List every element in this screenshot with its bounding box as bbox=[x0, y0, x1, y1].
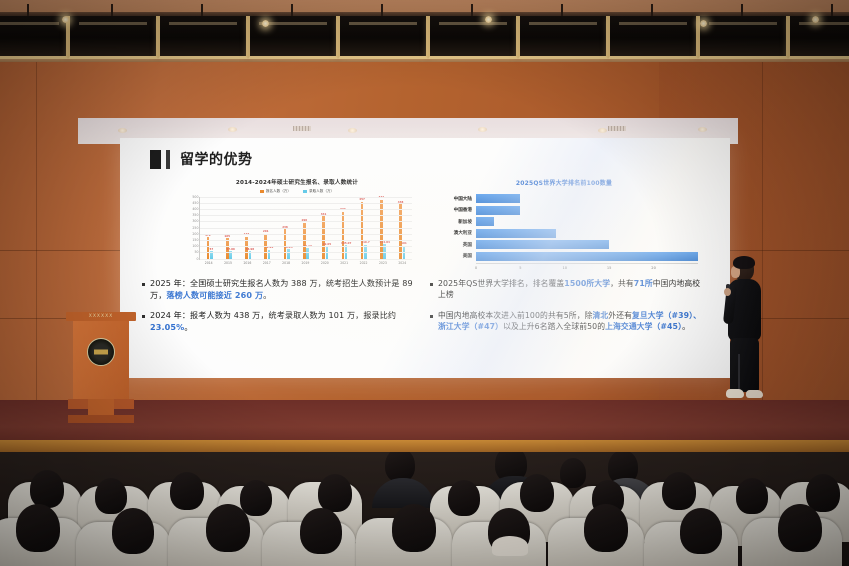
audience-head bbox=[16, 504, 60, 552]
light-hanger bbox=[27, 4, 29, 16]
chart-title-right: 2025QS世界大学排名前100数量 bbox=[430, 178, 698, 187]
bar-category-label: 澳大利亚 bbox=[430, 230, 476, 236]
presenter bbox=[724, 258, 772, 410]
bullet-marker-icon bbox=[430, 315, 433, 318]
bar-category-label: 中国香港 bbox=[430, 207, 476, 213]
x-axis-tick: 2024 bbox=[398, 261, 406, 265]
ceiling-spotlight bbox=[262, 20, 269, 27]
plain-text: 外还有 bbox=[608, 311, 632, 320]
bar-country-count bbox=[476, 240, 609, 249]
bar-category-label: 美国 bbox=[430, 253, 476, 259]
gridline bbox=[200, 246, 412, 247]
audience-head bbox=[206, 504, 250, 552]
light-hanger bbox=[741, 4, 743, 16]
y-axis-tick: 0 bbox=[196, 257, 198, 261]
podium-base bbox=[68, 415, 134, 423]
highlighted-text: 清北 bbox=[593, 311, 609, 320]
x-axis-tick: 20 bbox=[651, 266, 656, 270]
chart-qs-top100: 2025QS世界大学排名前100数量 中国大陆中国香港新加坡澳大利亚英国美国 0… bbox=[430, 178, 698, 273]
audience-head bbox=[520, 474, 554, 512]
bullet-item: 2025年QS世界大学排名，排名覆盖1500所大学，共有71所中国内地高校上榜 bbox=[430, 278, 708, 301]
x-axis-tick: 5 bbox=[519, 266, 521, 270]
bar-row: 新加坡 bbox=[430, 217, 698, 226]
chart-bars-right: 中国大陆中国香港新加坡澳大利亚英国美国 bbox=[430, 194, 698, 261]
audience-cap bbox=[492, 536, 528, 556]
audience-head bbox=[392, 504, 436, 552]
x-axis-tick: 10 bbox=[563, 266, 568, 270]
chart-xaxis-left: 2014201520162017201820192020202120222023… bbox=[199, 261, 412, 265]
audience-head bbox=[560, 458, 586, 488]
bullet-item: 2025 年：全国硕士研究生报名人数为 388 万，统考招生人数预计是 89 万… bbox=[142, 278, 420, 301]
auditorium-photo: 留学的优势 2014-2024年硕士研究生报名、录取人数统计 报名人数（万）录取… bbox=[0, 0, 849, 566]
y-axis-tick: 400 bbox=[192, 207, 198, 211]
gridline bbox=[200, 197, 412, 198]
x-axis-tick: 15 bbox=[607, 266, 612, 270]
plain-text: 。 bbox=[263, 290, 271, 300]
stage-light-fixture bbox=[68, 16, 158, 59]
audience-head bbox=[95, 478, 127, 514]
audience-head bbox=[662, 472, 696, 510]
bullet-text: 2025 年：全国硕士研究生报名人数为 388 万，统考招生人数预计是 89 万… bbox=[150, 278, 420, 301]
audience-head bbox=[30, 470, 64, 508]
bar-track bbox=[476, 217, 698, 226]
highlighted-text: 1500所大学 bbox=[564, 279, 610, 288]
podium-top-text: XXXXXX bbox=[66, 314, 136, 319]
bullet-text: 2024 年：报考人数为 438 万，统考录取人数为 101 万，报录比约 23… bbox=[150, 310, 420, 333]
chart-plot-left: 1725716557.0617758.9820172.2223876.25290… bbox=[199, 197, 412, 260]
podium: XXXXXX bbox=[70, 312, 132, 427]
bullet-text: 2025年QS世界大学排名，排名覆盖1500所大学，共有71所中国内地高校上榜 bbox=[438, 278, 708, 301]
y-axis-tick: 450 bbox=[192, 201, 198, 205]
bar-category-label: 中国大陆 bbox=[430, 196, 476, 202]
audience-head bbox=[736, 478, 768, 514]
light-hanger bbox=[201, 4, 203, 16]
gridline bbox=[200, 215, 412, 216]
gridline bbox=[200, 228, 412, 229]
legend-item: 录取人数（万） bbox=[303, 189, 334, 194]
bar-country-count bbox=[476, 252, 698, 261]
light-hanger bbox=[381, 4, 383, 16]
bar-value-label: 110.7 bbox=[361, 240, 370, 244]
stage-light-fixture bbox=[158, 16, 248, 59]
bar-track bbox=[476, 252, 698, 261]
chart-xaxis-right: 05101520 bbox=[476, 263, 698, 273]
highlighted-text: 上海交通大学（#45） bbox=[605, 322, 682, 331]
podium-top: XXXXXX bbox=[66, 312, 136, 321]
bar-value-label: 457 bbox=[359, 197, 365, 201]
chart-legend-left: 报名人数（万）录取人数（万） bbox=[182, 189, 412, 194]
bullet-column-left: 2025 年：全国硕士研究生报名人数为 388 万，统考招生人数预计是 89 万… bbox=[142, 278, 420, 376]
bullet-item: 中国内地高校本次进入前100的共有5所，除清北外还有复旦大学（#39）、浙江大学… bbox=[430, 310, 708, 333]
light-hanger bbox=[471, 4, 473, 16]
x-axis-tick: 2019 bbox=[302, 261, 310, 265]
audience-seating bbox=[0, 452, 849, 566]
legend-label: 录取人数（万） bbox=[309, 189, 334, 194]
chart-enrollment-statistics: 2014-2024年硕士研究生报名、录取人数统计 报名人数（万）录取人数（万） … bbox=[182, 178, 412, 273]
x-axis-tick: 2017 bbox=[263, 261, 271, 265]
bullet-marker-icon bbox=[142, 315, 145, 318]
bullet-marker-icon bbox=[142, 283, 145, 286]
chart-title-left: 2014-2024年硕士研究生报名、录取人数统计 bbox=[182, 178, 412, 186]
gridline bbox=[200, 240, 412, 241]
light-hanger bbox=[291, 4, 293, 16]
slide-title-row: 留学的优势 bbox=[150, 149, 253, 169]
presenter-shoe-left bbox=[726, 389, 744, 398]
x-axis-tick: 2018 bbox=[282, 261, 290, 265]
presenter-shoe-right bbox=[746, 390, 763, 398]
bar-value-label: 201 bbox=[263, 229, 269, 233]
bar-value-label: 101 bbox=[401, 241, 407, 245]
audience-shoulders bbox=[372, 478, 434, 508]
bar-value-label: 57.06 bbox=[226, 247, 235, 251]
slide-bullets: 2025 年：全国硕士研究生报名人数为 388 万，统考招生人数预计是 89 万… bbox=[120, 278, 730, 376]
y-axis-tick: 500 bbox=[192, 195, 198, 199]
y-axis-tick: 150 bbox=[192, 238, 198, 242]
bar-row: 中国香港 bbox=[430, 206, 698, 215]
audience-head bbox=[680, 508, 722, 554]
presenter-hand bbox=[724, 288, 731, 296]
bullet-item: 2024 年：报考人数为 438 万，统考录取人数为 101 万，报录比约 23… bbox=[142, 310, 420, 333]
podium-emblem-icon bbox=[87, 338, 115, 366]
bar-value-label: 105.07 bbox=[341, 241, 351, 245]
light-hanger bbox=[111, 4, 113, 16]
bar-value-label: 58.98 bbox=[246, 247, 255, 251]
plain-text: 2025年QS世界大学排名，排名覆盖 bbox=[438, 279, 564, 288]
y-axis-tick: 300 bbox=[192, 219, 198, 223]
gridline bbox=[200, 234, 412, 235]
charts-region: 2014-2024年硕士研究生报名、录取人数统计 报名人数（万）录取人数（万） … bbox=[120, 178, 730, 273]
presenter-legs bbox=[730, 338, 759, 392]
light-hanger bbox=[831, 4, 833, 16]
gridline bbox=[200, 252, 412, 253]
bar-admitted: 72.22 bbox=[268, 250, 271, 259]
bar-country-count bbox=[476, 229, 556, 238]
plain-text: 以及上升6名踏入全球前50的 bbox=[503, 322, 605, 331]
gridline bbox=[200, 203, 412, 204]
stage-light-fixture bbox=[428, 16, 518, 59]
gridline bbox=[200, 209, 412, 210]
legend-item: 报名人数（万） bbox=[260, 189, 291, 194]
bar-country-count bbox=[476, 194, 520, 203]
bullet-marker-icon bbox=[430, 283, 433, 286]
wall-edge bbox=[36, 62, 37, 442]
y-axis-tick: 200 bbox=[192, 232, 198, 236]
highlighted-text: 23.05% bbox=[150, 322, 184, 332]
stage-light-fixture bbox=[518, 16, 608, 59]
plain-text: ，共有 bbox=[610, 279, 634, 288]
bullet-column-right: 2025年QS世界大学排名，排名覆盖1500所大学，共有71所中国内地高校上榜中… bbox=[430, 278, 708, 376]
ceiling-spotlight bbox=[62, 16, 69, 23]
y-axis-tick: 350 bbox=[192, 213, 198, 217]
bar-applicants: 457 bbox=[361, 202, 364, 259]
highlighted-text: 落榜人数可能接近 260 万 bbox=[166, 290, 263, 300]
bar-admitted: 76.25 bbox=[287, 249, 290, 258]
title-marker-small-icon bbox=[166, 150, 170, 169]
x-axis-tick: 2022 bbox=[360, 261, 368, 265]
audience-head bbox=[300, 508, 342, 554]
y-axis-tick: 50 bbox=[194, 250, 198, 254]
stage-light-fixture bbox=[338, 16, 428, 59]
ceiling-spotlight bbox=[812, 16, 819, 23]
light-hanger bbox=[651, 4, 653, 16]
x-axis-tick: 2014 bbox=[205, 261, 213, 265]
bar-country-count bbox=[476, 206, 520, 215]
gridline bbox=[200, 221, 412, 222]
audience-head bbox=[112, 508, 154, 554]
presenter-leg-split bbox=[738, 354, 740, 392]
audience-head bbox=[318, 474, 352, 512]
presentation-slide: 留学的优势 2014-2024年硕士研究生报名、录取人数统计 报名人数（万）录取… bbox=[120, 138, 730, 378]
page-title: 留学的优势 bbox=[180, 149, 253, 169]
plain-text: 2024 年：报考人数为 438 万，统考录取人数为 101 万，报录比约 bbox=[150, 310, 396, 320]
stage-light-fixture bbox=[0, 16, 68, 59]
highlighted-text: 71所 bbox=[634, 279, 653, 288]
light-hanger bbox=[561, 4, 563, 16]
plain-text: 中国内地高校本次进入前100的共有5所，除 bbox=[438, 311, 593, 320]
stage-light-fixture bbox=[608, 16, 698, 59]
bar-track bbox=[476, 229, 698, 238]
gridline bbox=[200, 259, 412, 260]
bar-row: 中国大陆 bbox=[430, 194, 698, 203]
y-axis-tick: 100 bbox=[192, 244, 198, 248]
audience-head bbox=[448, 480, 480, 516]
bullet-text: 中国内地高校本次进入前100的共有5所，除清北外还有复旦大学（#39）、浙江大学… bbox=[438, 310, 708, 333]
stage-light-fixture bbox=[788, 16, 849, 59]
x-axis-tick: 2015 bbox=[224, 261, 232, 265]
bar-track bbox=[476, 206, 698, 215]
x-axis-tick: 2021 bbox=[340, 261, 348, 265]
x-axis-tick: 2020 bbox=[321, 261, 329, 265]
x-axis-tick: 2016 bbox=[243, 261, 251, 265]
presenter-hair bbox=[733, 256, 755, 269]
projection-screen: 留学的优势 2014-2024年硕士研究生报名、录取人数统计 报名人数（万）录取… bbox=[120, 138, 730, 378]
bar-row: 英国 bbox=[430, 240, 698, 249]
bar-applicants: 438 bbox=[399, 204, 402, 258]
bar-category-label: 英国 bbox=[430, 242, 476, 248]
bar-value-label: 57 bbox=[209, 247, 213, 251]
audience-head bbox=[170, 472, 204, 510]
plain-text: 。 bbox=[184, 322, 192, 332]
legend-label: 报名人数（万） bbox=[266, 189, 291, 194]
bar-row: 澳大利亚 bbox=[430, 229, 698, 238]
stage-light-fixture bbox=[698, 16, 788, 59]
x-axis-tick: 0 bbox=[475, 266, 477, 270]
audience-head bbox=[584, 504, 628, 552]
bar-track bbox=[476, 194, 698, 203]
bar-row: 美国 bbox=[430, 252, 698, 261]
audience-head bbox=[778, 504, 822, 552]
title-marker-icon bbox=[150, 150, 161, 169]
x-axis-tick: 2023 bbox=[379, 261, 387, 265]
bar-admitted: 81.13 bbox=[306, 248, 309, 258]
audience-head bbox=[240, 480, 272, 516]
bar-country-count bbox=[476, 217, 494, 226]
bar-category-label: 新加坡 bbox=[430, 219, 476, 225]
bar-track bbox=[476, 240, 698, 249]
ceiling-spotlight bbox=[485, 16, 492, 23]
y-axis-tick: 250 bbox=[192, 226, 198, 230]
ceiling-spotlight bbox=[700, 20, 707, 27]
plain-text: 。 bbox=[682, 322, 690, 331]
